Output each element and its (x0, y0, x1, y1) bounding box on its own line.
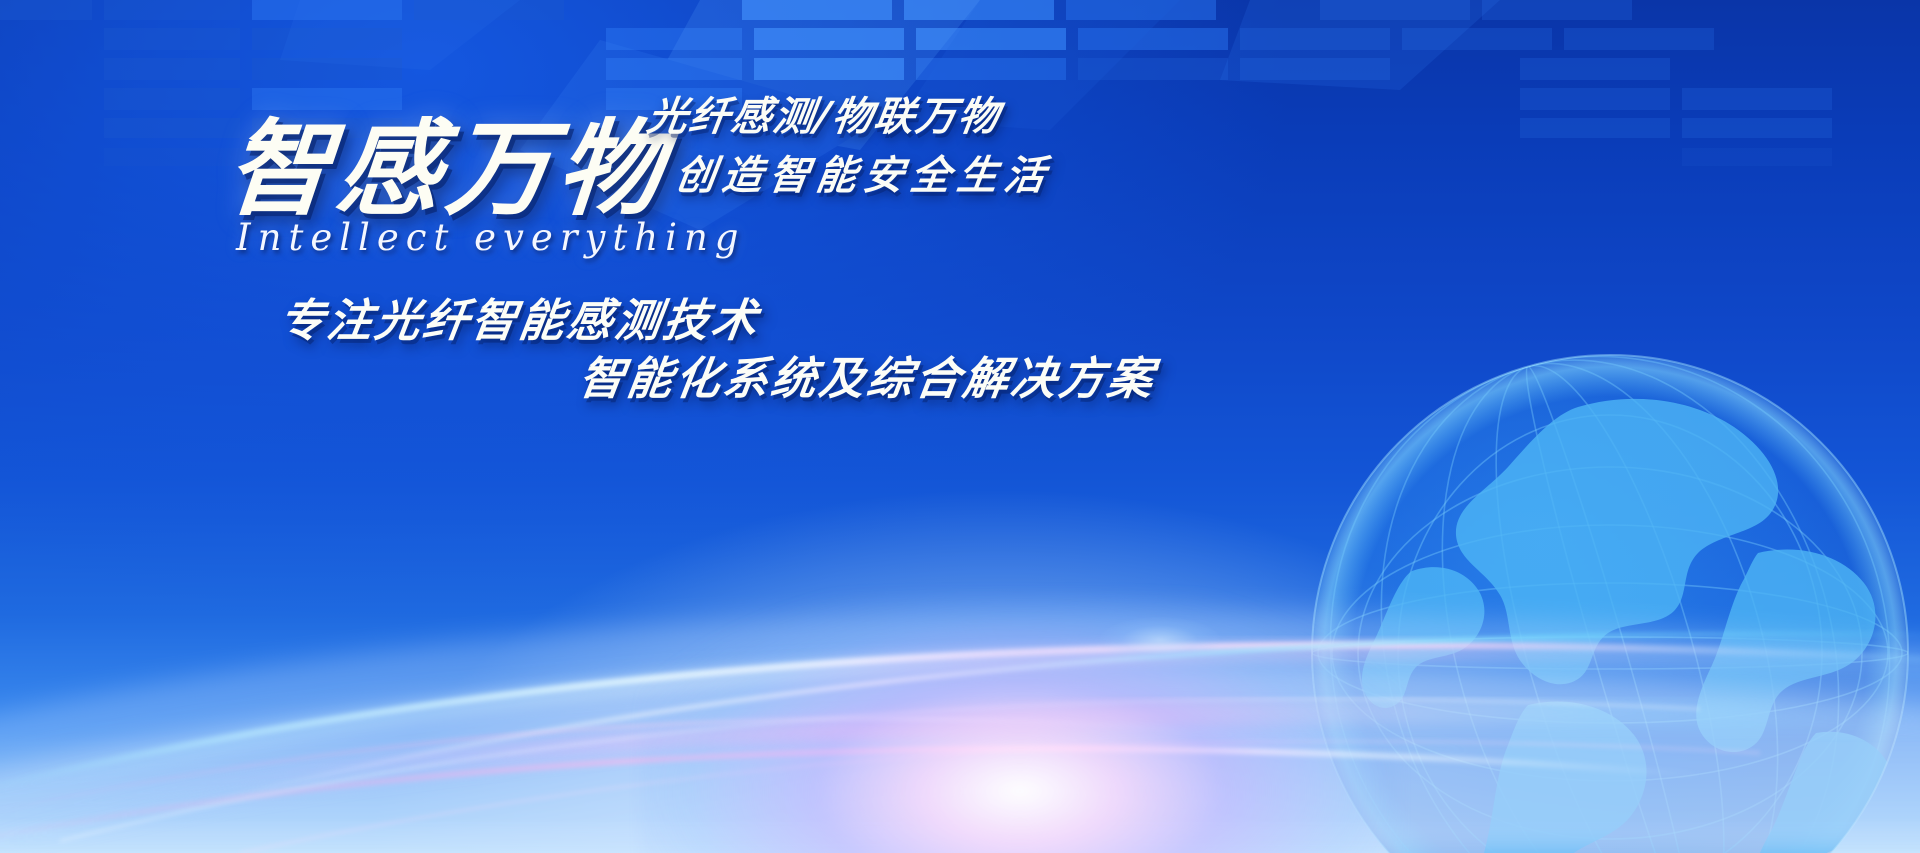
globe-graphic (1260, 303, 1920, 853)
hero-banner: 智感万物 Intellect everything 光纤感测/物联万物 创造智能… (0, 0, 1920, 853)
page-subtitle-en: Intellect everything (236, 216, 745, 259)
page-title: 智感万物 (221, 84, 674, 235)
tagline-line-2: 智能化系统及综合解决方案 (575, 342, 1160, 407)
slogan-line-1: 光纤感测/物联万物 (644, 84, 1005, 142)
slogan-line-2: 创造智能安全生活 (672, 143, 1056, 201)
tagline-line-1: 专注光纤智能感测技术 (275, 284, 764, 349)
